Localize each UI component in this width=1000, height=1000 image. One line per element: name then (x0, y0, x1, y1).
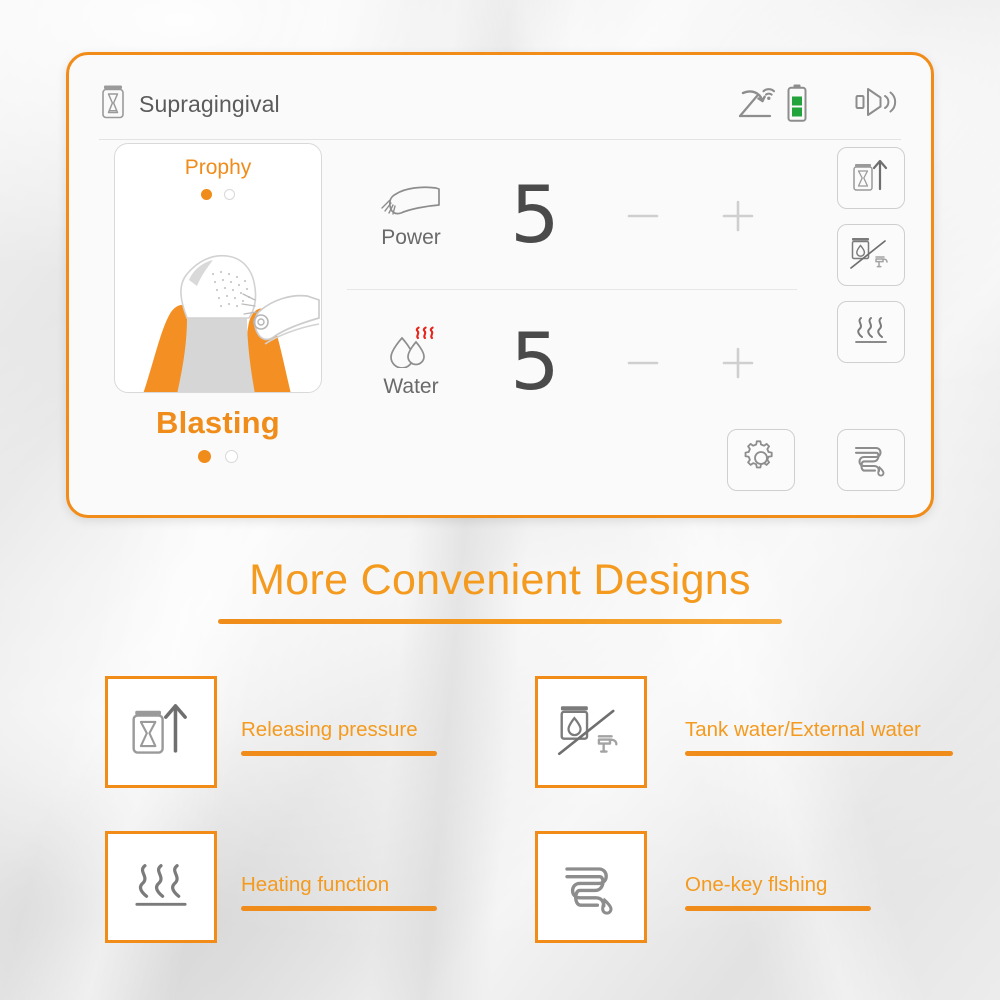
tank-or-external-water-icon (553, 696, 629, 769)
feature-label: Tank water/External water (685, 718, 953, 742)
water-decrement-button[interactable] (595, 343, 690, 383)
wireless-foot-pedal-icon (737, 82, 781, 127)
header-divider (99, 139, 901, 140)
blasting-dot-2[interactable] (225, 450, 238, 463)
feature-label: Heating function (241, 873, 437, 897)
feature-water-source: Tank water/External water (535, 676, 965, 831)
blasting-dot-1[interactable] (198, 450, 211, 463)
device-header: Supragingival (99, 71, 901, 137)
feature-underline (241, 906, 437, 911)
power-value: 5 (475, 177, 595, 255)
one-key-flushing-icon (554, 853, 628, 922)
powder-jar-up-arrow-icon (124, 696, 198, 769)
feature-label: One-key flshing (685, 873, 871, 897)
feature-text-group: One-key flshing (685, 831, 871, 911)
water-control-row: Water 5 (347, 289, 797, 435)
power-increment-button[interactable] (690, 196, 785, 236)
settings-button[interactable] (727, 429, 795, 491)
flushing-button[interactable] (837, 429, 905, 491)
page-stage: Supragingival (0, 0, 1000, 1000)
water-value: 5 (475, 324, 595, 402)
headline-text: More Convenient Designs (0, 556, 1000, 605)
program-label-group: Blasting (114, 405, 322, 463)
water-source-button[interactable] (837, 224, 905, 286)
power-control-row: Power 5 (347, 143, 797, 289)
power-decrement-button[interactable] (595, 196, 690, 236)
device-screen-panel: Supragingival (66, 52, 934, 518)
section-headline: More Convenient Designs (0, 556, 1000, 624)
feature-icon-box (535, 676, 647, 788)
powder-jar-up-arrow-icon (848, 155, 894, 202)
battery-icon (787, 84, 807, 127)
water-label: Water (383, 375, 438, 399)
feature-label: Releasing pressure (241, 718, 437, 742)
mode-illustration-card[interactable]: Prophy (114, 143, 322, 393)
speaker-volume-icon[interactable] (853, 83, 901, 126)
heating-button[interactable] (837, 301, 905, 363)
feature-underline (685, 751, 953, 756)
gear-icon (741, 438, 781, 483)
device-title: Supragingival (139, 91, 280, 118)
feature-text-group: Releasing pressure (241, 676, 437, 756)
feature-text-group: Heating function (241, 831, 437, 911)
settings-controls: Power 5 (347, 143, 797, 435)
feature-icon-box (535, 831, 647, 943)
tooth-gum-prophy-handpiece-illustration (115, 218, 322, 393)
program-dots[interactable] (114, 450, 322, 463)
release-pressure-button[interactable] (837, 147, 905, 209)
feature-icon-box (105, 831, 217, 943)
mode-dots[interactable] (115, 189, 321, 200)
prophy-dot-2[interactable] (224, 189, 235, 200)
feature-releasing-pressure: Releasing pressure (105, 676, 535, 831)
device-status-icons (737, 82, 901, 127)
mode-label: Prophy (115, 156, 321, 180)
power-label: Power (381, 226, 441, 250)
heat-waves-icon (848, 311, 894, 354)
bottom-function-buttons (727, 429, 905, 491)
heat-waves-icon (124, 854, 198, 921)
feature-text-group: Tank water/External water (685, 676, 953, 756)
program-label: Blasting (114, 405, 322, 441)
feature-icon-box (105, 676, 217, 788)
side-function-buttons (837, 147, 905, 363)
water-label-group: Water (347, 326, 475, 399)
one-key-flushing-icon (848, 438, 894, 483)
feature-grid: Releasing pressure Ta (105, 676, 967, 986)
feature-one-key-flushing: One-key flshing (535, 831, 965, 986)
heated-water-drop-icon (380, 326, 442, 373)
water-increment-button[interactable] (690, 343, 785, 383)
powder-jar-hourglass-icon (99, 84, 127, 125)
prophy-dot-1[interactable] (201, 189, 212, 200)
handpiece-spray-icon (380, 183, 442, 224)
tank-or-external-water-icon (847, 232, 895, 279)
power-label-group: Power (347, 183, 475, 250)
feature-heating-function: Heating function (105, 831, 535, 986)
feature-underline (685, 906, 871, 911)
feature-underline (241, 751, 437, 756)
headline-underline (218, 619, 782, 624)
